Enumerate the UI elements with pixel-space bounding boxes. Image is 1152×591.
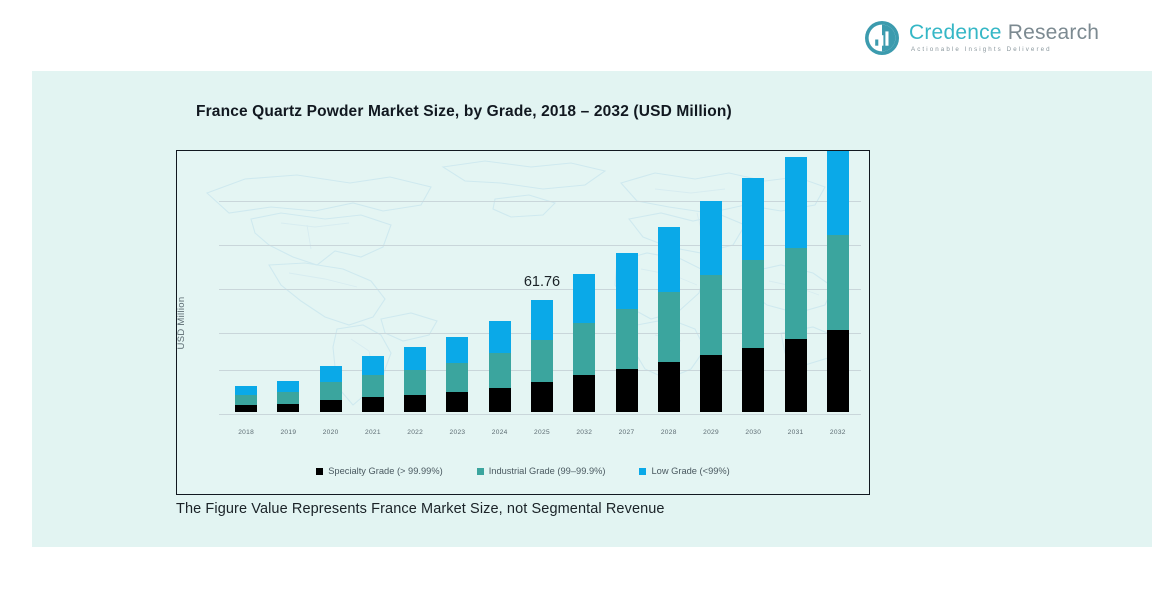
legend-swatch-icon [477, 468, 484, 475]
x-tick-label: 2018 [225, 429, 267, 436]
bar-column: 98.07 [817, 161, 859, 412]
bar-segment [531, 340, 553, 382]
legend-item[interactable]: Specialty Grade (> 99.99%) [316, 466, 442, 476]
stacked-bar [827, 150, 849, 412]
bar-segment [446, 392, 468, 412]
bar-segment [827, 330, 849, 412]
bar-column [690, 161, 732, 412]
bar-segment [742, 260, 764, 347]
legend-item[interactable]: Low Grade (<99%) [639, 466, 729, 476]
brand-name-secondary: Research [1008, 21, 1099, 44]
x-tick-label: 2021 [352, 429, 394, 436]
stacked-bar [446, 337, 468, 412]
bar-segment [827, 235, 849, 330]
bar-segment [658, 362, 680, 412]
bar-segment [785, 248, 807, 339]
bar-column [648, 161, 690, 412]
bar-segment [658, 292, 680, 362]
bar-chart-circle-icon [864, 20, 900, 56]
bar-segment [742, 348, 764, 412]
x-tick-label: 2032 [817, 429, 859, 436]
bar-column: 61.76 [521, 161, 563, 412]
bar-column [310, 161, 352, 412]
bar-segment [277, 392, 299, 404]
brand-tagline: Actionable Insights Delivered [911, 47, 1099, 53]
stacked-bar [658, 227, 680, 412]
x-tick-label: 2019 [267, 429, 309, 436]
bar-segment [785, 157, 807, 247]
stacked-bar [742, 178, 764, 412]
stacked-bar [616, 253, 638, 412]
legend-item[interactable]: Industrial Grade (99–99.9%) [477, 466, 606, 476]
stacked-bar [235, 386, 257, 412]
chart-legend: Specialty Grade (> 99.99%)Industrial Gra… [177, 466, 869, 476]
bar-segment [362, 356, 384, 376]
bar-segment [235, 395, 257, 405]
bar-segment [573, 375, 595, 412]
bar-column [563, 161, 605, 412]
plot-area: USD Million 61.7698.07 20182019202020212… [176, 150, 870, 495]
bar-column [732, 161, 774, 412]
bar-segment [700, 275, 722, 355]
bar-column [394, 161, 436, 412]
bar-segment [785, 339, 807, 412]
bar-segment [235, 386, 257, 395]
bar-segment [616, 369, 638, 412]
stacked-bar [362, 356, 384, 412]
bar-segment [277, 381, 299, 392]
bar-segment [277, 404, 299, 412]
bar-segment [320, 366, 342, 382]
bar-segment [573, 323, 595, 375]
bar-segment [616, 253, 638, 309]
brand-name-primary: Credence [909, 21, 1002, 44]
chart-footnote: The Figure Value Represents France Marke… [176, 501, 665, 517]
brand-wordmark: Credence Research Actionable Insights De… [909, 22, 1099, 53]
bar-segment [573, 274, 595, 323]
bar-segment [404, 347, 426, 370]
bar-segment [700, 355, 722, 412]
chart-title: France Quartz Powder Market Size, by Gra… [196, 103, 732, 121]
bar-segment [700, 201, 722, 275]
bar-column [605, 161, 647, 412]
legend-label: Low Grade (<99%) [651, 466, 729, 476]
chart-page: Credence Research Actionable Insights De… [0, 0, 1152, 591]
y-axis-title: USD Million [176, 296, 187, 349]
bar-segment [235, 405, 257, 412]
legend-label: Specialty Grade (> 99.99%) [328, 466, 442, 476]
bar-column [267, 161, 309, 412]
legend-swatch-icon [639, 468, 646, 475]
legend-label: Industrial Grade (99–99.9%) [489, 466, 606, 476]
bar-segment [404, 395, 426, 412]
bar-column [774, 161, 816, 412]
bar-segment [489, 321, 511, 353]
bar-segment [616, 309, 638, 369]
stacked-bar [700, 201, 722, 412]
x-axis-tick-labels: 2018201920202021202220232024202520322027… [225, 429, 859, 436]
bar-segment [362, 397, 384, 412]
x-tick-label: 2030 [732, 429, 774, 436]
x-tick-label: 2027 [605, 429, 647, 436]
x-tick-label: 2024 [479, 429, 521, 436]
bar-segment [531, 382, 553, 412]
bar-segment [404, 370, 426, 395]
stacked-bar [320, 366, 342, 412]
stacked-bar [531, 300, 553, 412]
bar-segment [320, 382, 342, 399]
credence-research-logo: Credence Research Actionable Insights De… [864, 20, 1099, 56]
x-tick-label: 2020 [310, 429, 352, 436]
x-tick-label: 2025 [521, 429, 563, 436]
bar-segment [446, 363, 468, 392]
bar-segment [446, 337, 468, 363]
bar-segment [827, 150, 849, 235]
x-tick-label: 2029 [690, 429, 732, 436]
bar-segment [531, 300, 553, 339]
bar-column [436, 161, 478, 412]
x-tick-label: 2028 [648, 429, 690, 436]
x-tick-label: 2032 [563, 429, 605, 436]
stacked-bar [277, 381, 299, 412]
stacked-bar [573, 274, 595, 412]
bar-series-group: 61.7698.07 [225, 161, 859, 412]
bar-column [352, 161, 394, 412]
stacked-bar [785, 157, 807, 412]
bar-segment [362, 375, 384, 396]
stacked-bar [489, 321, 511, 412]
x-tick-label: 2031 [774, 429, 816, 436]
bar-column [479, 161, 521, 412]
bar-segment [320, 400, 342, 412]
bars-region: 61.7698.07 [225, 161, 859, 412]
stacked-bar [404, 347, 426, 412]
legend-swatch-icon [316, 468, 323, 475]
bar-segment [489, 388, 511, 412]
x-tick-label: 2022 [394, 429, 436, 436]
bar-segment [742, 178, 764, 261]
bar-segment [489, 353, 511, 388]
bar-value-label: 61.76 [524, 274, 560, 290]
bar-column [225, 161, 267, 412]
x-tick-label: 2023 [436, 429, 478, 436]
bar-segment [658, 227, 680, 292]
